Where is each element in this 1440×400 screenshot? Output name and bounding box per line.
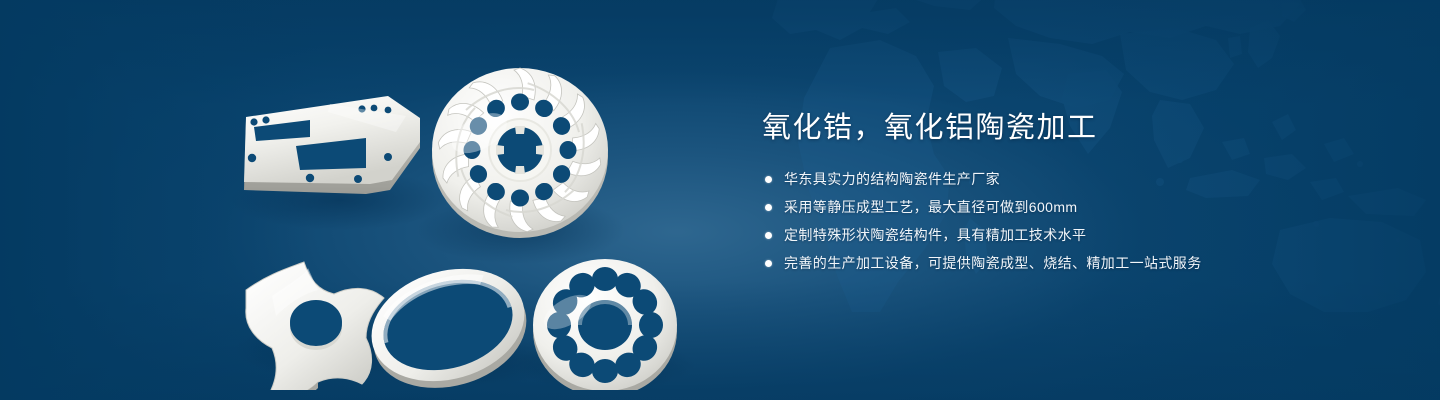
bullet-dot-icon [765, 232, 772, 239]
list-item-label: 完善的生产加工设备，可提供陶瓷成型、烧结、精加工一站式服务 [784, 252, 1202, 274]
product-photo-group [220, 20, 720, 390]
list-item: 定制特殊形状陶瓷结构件，具有精加工技术水平 [762, 224, 1382, 246]
ceramic-plate-shape [244, 96, 420, 194]
bullet-dot-icon [765, 176, 772, 183]
hero-banner: 氧化锆，氧化铝陶瓷加工 华东具实力的结构陶瓷件生产厂家 采用等静压成型工艺，最大… [0, 0, 1440, 400]
list-item-label: 采用等静压成型工艺，最大直径可做到600mm [784, 196, 1077, 218]
bullet-dot-icon [765, 260, 772, 267]
feature-list: 华东具实力的结构陶瓷件生产厂家 采用等静压成型工艺，最大直径可做到600mm 定… [762, 168, 1382, 274]
banner-copy: 氧化锆，氧化铝陶瓷加工 华东具实力的结构陶瓷件生产厂家 采用等静压成型工艺，最大… [762, 110, 1382, 280]
list-item-label: 定制特殊形状陶瓷结构件，具有精加工技术水平 [784, 224, 1086, 246]
list-item: 采用等静压成型工艺，最大直径可做到600mm [762, 196, 1382, 218]
list-item: 完善的生产加工设备，可提供陶瓷成型、烧结、精加工一站式服务 [762, 252, 1382, 274]
list-item-label: 华东具实力的结构陶瓷件生产厂家 [784, 168, 1000, 190]
ceramic-impeller-shape [432, 68, 608, 238]
ceramic-perforated-disc-shape [533, 259, 677, 390]
bullet-dot-icon [765, 204, 772, 211]
page-title: 氧化锆，氧化铝陶瓷加工 [762, 110, 1382, 146]
list-item: 华东具实力的结构陶瓷件生产厂家 [762, 168, 1382, 190]
